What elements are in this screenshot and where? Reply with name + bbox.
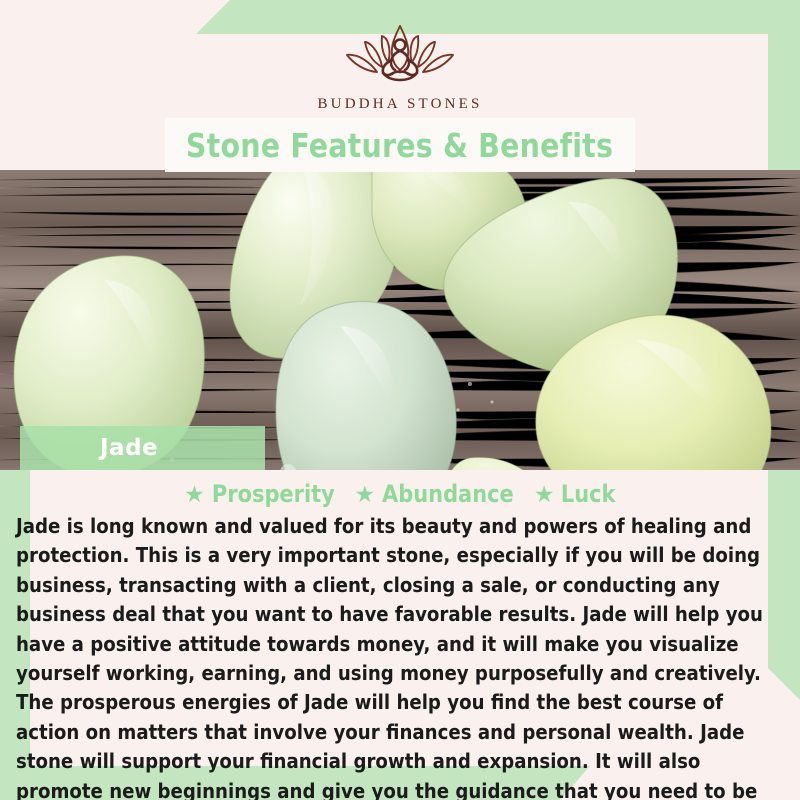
stone-name-label: Jade xyxy=(100,435,158,461)
stone-name-badge: Jade xyxy=(20,426,265,470)
lotus-meditation-icon xyxy=(325,22,475,90)
page-title: Stone Features & Benefits xyxy=(186,126,613,165)
benefit-label: Luck xyxy=(560,480,615,508)
stone-description: Jade is long known and valued for its be… xyxy=(16,512,776,800)
benefit-item: ★ Luck xyxy=(528,480,622,508)
benefit-label: Prosperity xyxy=(212,480,335,508)
star-icon: ★ xyxy=(184,483,205,506)
hero-image xyxy=(0,170,800,470)
product-info-card: BUDDHA STONES xyxy=(0,0,800,800)
benefit-label: Abundance xyxy=(382,480,514,508)
brand-logo-block: BUDDHA STONES xyxy=(0,22,800,113)
star-icon: ★ xyxy=(355,483,376,506)
benefit-item: ★ Abundance xyxy=(349,480,522,508)
jade-stones-illustration xyxy=(0,170,800,470)
benefits-row: ★ Prosperity ★ Abundance ★ Luck xyxy=(0,480,800,508)
section-title-banner: Stone Features & Benefits xyxy=(165,118,635,172)
benefit-item: ★ Prosperity xyxy=(178,480,342,508)
star-icon: ★ xyxy=(534,483,555,506)
brand-wordmark: BUDDHA STONES xyxy=(0,96,800,113)
